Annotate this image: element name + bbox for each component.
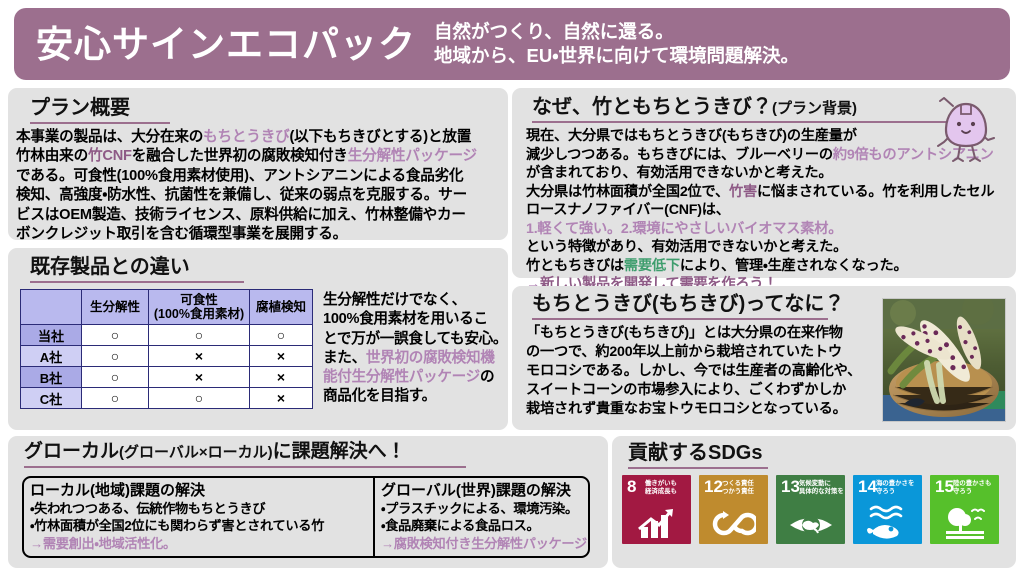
glocal-local-column: ローカル(地域)課題の解決 ・失われつつある、伝統作物もちとうきび ・竹林面積が… xyxy=(24,478,375,556)
row-label-company-c: C社 xyxy=(21,388,82,409)
table-row: C社 ○ ○ × xyxy=(21,388,313,409)
why-line-2a: 減少しつつある。もちきびには、ブルーベリーの xyxy=(526,147,833,163)
glocal-box: ローカル(地域)課題の解決 ・失われつつある、伝統作物もちとうきび ・竹林面積が… xyxy=(22,476,590,558)
title-underline xyxy=(30,122,170,124)
cell-a-edible: × xyxy=(149,346,250,367)
panel-title-sdgs: 貢献するSDGs xyxy=(628,442,1016,464)
panel-what-is-mochikibi: もちとうきび(もちきび)ってなに？ 「もちとうきび(もちきび)」とは大分県の在来… xyxy=(512,286,1016,430)
title-underline xyxy=(532,121,952,123)
overview-highlight-mochitoukibi: もちとうきび xyxy=(203,129,289,145)
panel-sdgs: 貢献するSDGs 8 働きがいも 経済成長も 12 つくる xyxy=(612,436,1016,568)
sdg-13-number: 13 xyxy=(781,478,800,495)
overview-text-4: を融合した世界初の腐敗検知付き xyxy=(132,148,348,164)
slide-root: 安心サインエコパック 自然がつくり、自然に還る。 地域から、EU・世界に向けて環… xyxy=(0,0,1024,576)
sdg-goal-13[interactable]: 13 気候変動に 具体的な対策を xyxy=(776,475,845,544)
why-highlight-bamboo-damage: 竹害 xyxy=(729,184,757,200)
infinity-loop-icon xyxy=(699,509,768,539)
fish-waves-icon xyxy=(853,505,922,539)
eye-globe-icon xyxy=(776,511,845,539)
why-line-8b: により、管理・生産されなくなった。 xyxy=(680,258,908,274)
title-underline xyxy=(24,466,466,468)
tree-birds-icon xyxy=(930,505,999,539)
glocal-title-a: グローカル xyxy=(24,441,119,462)
why-line-4a: 大分県は竹林面積が全国2位で、 xyxy=(526,184,729,200)
sdg-15-number: 15 xyxy=(935,478,954,495)
sdg-goal-15[interactable]: 15 陸の豊かさも 守ろう xyxy=(930,475,999,544)
anthocyanin-mascot-icon xyxy=(928,94,1002,164)
page-title: 安心サインエコパック xyxy=(36,26,416,63)
why-highlight-cnf-features: 1.軽くて強い。2.環境にやさしいバイオマス素材。 xyxy=(526,221,842,237)
cell-b-edible: × xyxy=(149,367,250,388)
why-line-8a: 竹ともちきびは xyxy=(526,258,624,274)
header-subtitle: 自然がつくり、自然に還る。 地域から、EU・世界に向けて環境問題解決。 xyxy=(434,20,799,67)
sdg-14-caption: 海の豊かさを 守ろう xyxy=(876,480,914,495)
slide-header: 安心サインエコパック 自然がつくり、自然に還る。 地域から、EU・世界に向けて環… xyxy=(14,8,1010,80)
overview-highlight-package: 生分解性パッケージ xyxy=(348,148,477,164)
global-bullet-1: ・プラスチックによる、環境汚染。 xyxy=(381,500,588,517)
sdg-goal-12[interactable]: 12 つくる責任 つかう責任 xyxy=(699,475,768,544)
why-line-7: という特徴があり、有効活用できないかと考えた。 xyxy=(526,239,847,255)
cell-c-edible: ○ xyxy=(149,388,250,409)
row-label-company-a: A社 xyxy=(21,346,82,367)
table-row: B社 ○ × × xyxy=(21,367,313,388)
row-label-company-b: B社 xyxy=(21,367,82,388)
col-header-rot-detection: 腐植検知 xyxy=(250,290,313,325)
panel-comparison: 既存製品との違い 生分解性 可食性 (100%食用素材) 腐植検知 当社 ○ xyxy=(8,248,508,430)
why-line-1: 現在、大分県ではもちとうきび(もちきび)の生産量が xyxy=(526,128,857,144)
overview-text-1: 本事業の製品は、大分在来の xyxy=(16,129,203,145)
cell-ours-edible: ○ xyxy=(149,325,250,346)
table-row: A社 ○ × × xyxy=(21,346,313,367)
col-header-edible: 可食性 (100%食用素材) xyxy=(149,290,250,325)
sdg-8-number: 8 xyxy=(627,478,636,495)
overview-text-2: (以下もちきびとする)と放置 xyxy=(290,129,472,145)
cell-a-biodegradable: ○ xyxy=(82,346,149,367)
local-bullet-2: ・竹林面積が全国2位にも関わらず害とされている竹 xyxy=(30,517,373,534)
glocal-title-b: (グローバル×ローカル) xyxy=(119,444,273,461)
corn-photo xyxy=(882,298,1006,422)
why-title-main: なぜ、竹ともちとうきび？ xyxy=(532,96,772,118)
sdg-goal-8[interactable]: 8 働きがいも 経済成長も xyxy=(622,475,691,544)
sdg-13-caption: 気候変動に 具体的な対策を xyxy=(799,480,844,495)
plan-overview-body: 本事業の製品は、大分在来のもちとうきび(以下もちきびとする)と放置竹林由来の竹C… xyxy=(16,128,498,244)
why-line-5: ロースナノファイバー(CNF)は、 xyxy=(526,202,730,218)
cell-c-rot: × xyxy=(250,388,313,409)
global-bullet-2: ・食品廃棄による食品ロス。 xyxy=(381,517,588,534)
local-conclusion: →需要創出・地域活性化。 xyxy=(30,535,373,552)
panel-title-comparison: 既存製品との違い xyxy=(30,256,508,278)
sdg-12-number: 12 xyxy=(704,478,723,495)
overview-text-rest: である。可食性(100%食用素材使用)、アントシアニンによる食品劣化 検知、高強… xyxy=(16,168,467,242)
sdg-14-number: 14 xyxy=(858,478,877,495)
table-header-row: 生分解性 可食性 (100%食用素材) 腐植検知 xyxy=(21,290,313,325)
comparison-table-body: 当社 ○ ○ ○ A社 ○ × × B社 ○ × xyxy=(21,325,313,409)
col-header-biodegradable: 生分解性 xyxy=(82,290,149,325)
title-underline xyxy=(532,318,828,320)
why-line-4b: に悩まされている。竹を利用したセル xyxy=(757,184,994,200)
sdg-15-caption: 陸の豊かさも 守ろう xyxy=(953,480,991,495)
col-header-blank xyxy=(21,290,82,325)
why-line-3: が含まれており、有効活用できないかと考えた。 xyxy=(526,165,832,181)
global-heading: グローバル(世界)課題の解決 xyxy=(381,482,588,499)
why-highlight-demand-drop: 需要低下 xyxy=(624,258,680,274)
glocal-title-c: に課題解決へ！ xyxy=(273,441,406,462)
why-title-sub: (プラン背景) xyxy=(772,100,857,117)
growth-chart-arrow-icon xyxy=(622,507,691,539)
cell-ours-rot: ○ xyxy=(250,325,313,346)
panel-glocal: グローカル(グローバル×ローカル)に課題解決へ！ ローカル(地域)課題の解決 ・… xyxy=(8,436,608,568)
sdg-8-caption: 働きがいも 経済成長も xyxy=(645,480,677,495)
glocal-global-column: グローバル(世界)課題の解決 ・プラスチックによる、環境汚染。 ・食品廃棄による… xyxy=(375,478,588,556)
panel-plan-overview: プラン概要 本事業の製品は、大分在来のもちとうきび(以下もちきびとする)と放置竹… xyxy=(8,88,508,240)
sdg-goal-list: 8 働きがいも 経済成長も 12 つくる責任 つかう責任 xyxy=(622,475,1016,544)
cell-a-rot: × xyxy=(250,346,313,367)
cell-c-biodegradable: ○ xyxy=(82,388,149,409)
panel-title-glocal: グローカル(グローバル×ローカル)に課題解決へ！ xyxy=(24,442,608,463)
corn-photo-image xyxy=(883,299,1005,421)
global-conclusion: →腐敗検知付き生分解性パッケージ xyxy=(381,535,588,552)
local-heading: ローカル(地域)課題の解決 xyxy=(30,482,373,499)
panel-title-plan-overview: プラン概要 xyxy=(30,97,508,119)
cell-b-biodegradable: ○ xyxy=(82,367,149,388)
what-body: 「もちとうきび(もちきび)」とは大分県の在来作物 の一つで、約200年以上前から… xyxy=(526,324,876,418)
sdg-goal-14[interactable]: 14 海の豊かさを 守ろう xyxy=(853,475,922,544)
title-underline xyxy=(628,467,768,469)
comparison-table: 生分解性 可食性 (100%食用素材) 腐植検知 当社 ○ ○ ○ A社 ○ xyxy=(20,289,313,409)
title-underline xyxy=(30,281,244,283)
table-row: 当社 ○ ○ ○ xyxy=(21,325,313,346)
overview-text-3: 竹林由来の xyxy=(16,148,88,164)
local-bullet-1: ・失われつつある、伝統作物もちとうきび xyxy=(30,500,373,517)
cell-ours-biodegradable: ○ xyxy=(82,325,149,346)
row-label-ours: 当社 xyxy=(21,325,82,346)
cell-b-rot: × xyxy=(250,367,313,388)
sdg-12-caption: つくる責任 つかう責任 xyxy=(722,480,754,495)
comparison-note: 生分解性だけでなく、 100%食用素材を用いるこ とで万が一誤食しても安心。 ま… xyxy=(323,291,507,409)
overview-highlight-cnf: 竹CNF xyxy=(88,148,132,164)
panel-why-bamboo-mochikibi: なぜ、竹ともちとうきび？(プラン背景) 現在、大分県ではもちとうきび(もちきび)… xyxy=(512,88,1016,278)
